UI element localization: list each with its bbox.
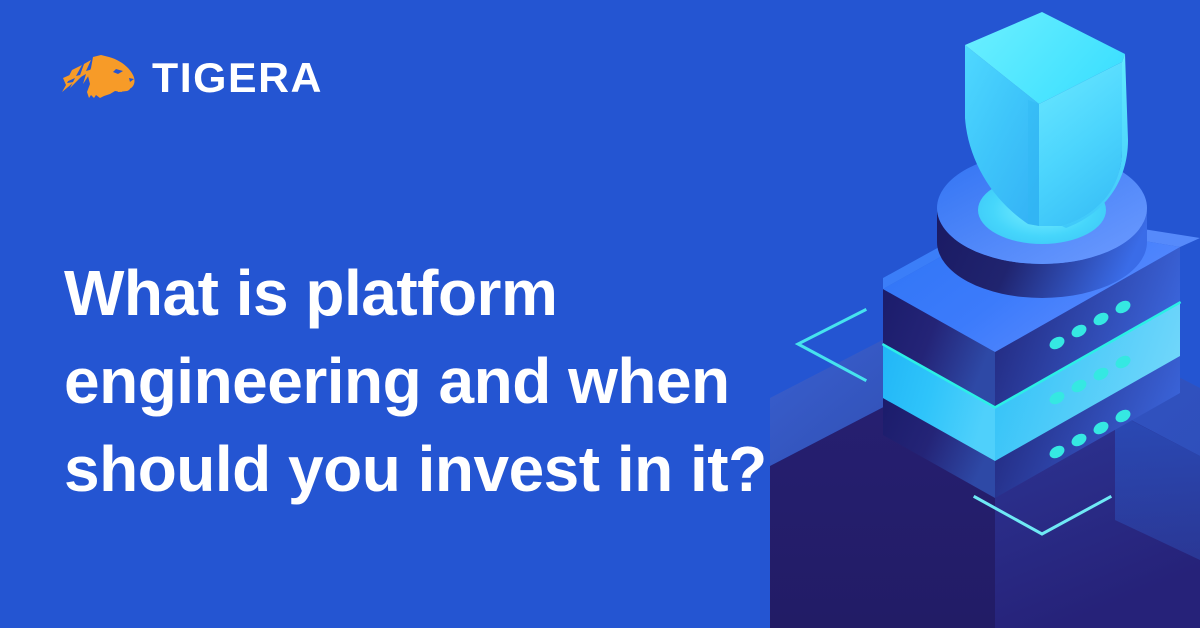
led-indicator-rows	[1047, 298, 1132, 461]
social-card: TIGERA What is platform engineering and …	[0, 0, 1200, 628]
chevron-accent-left	[798, 310, 865, 380]
tigera-wordmark: TIGERA	[152, 57, 323, 99]
server-stack	[883, 208, 1200, 498]
headline-line-3: should you invest in it?	[64, 425, 784, 513]
page-title: What is platform engineering and when sh…	[64, 249, 784, 513]
cylinder-pedestal	[937, 152, 1147, 298]
shield-icon	[965, 12, 1128, 228]
headline-line-2: engineering and when	[64, 337, 784, 425]
isometric-shield-server-illustration	[770, 0, 1200, 628]
headline-line-1: What is platform	[64, 249, 784, 337]
tigera-logo[interactable]: TIGERA	[60, 52, 320, 104]
tiger-head-icon	[60, 54, 140, 102]
chevron-accent-bottom	[975, 497, 1110, 534]
platform-base	[770, 282, 1200, 628]
